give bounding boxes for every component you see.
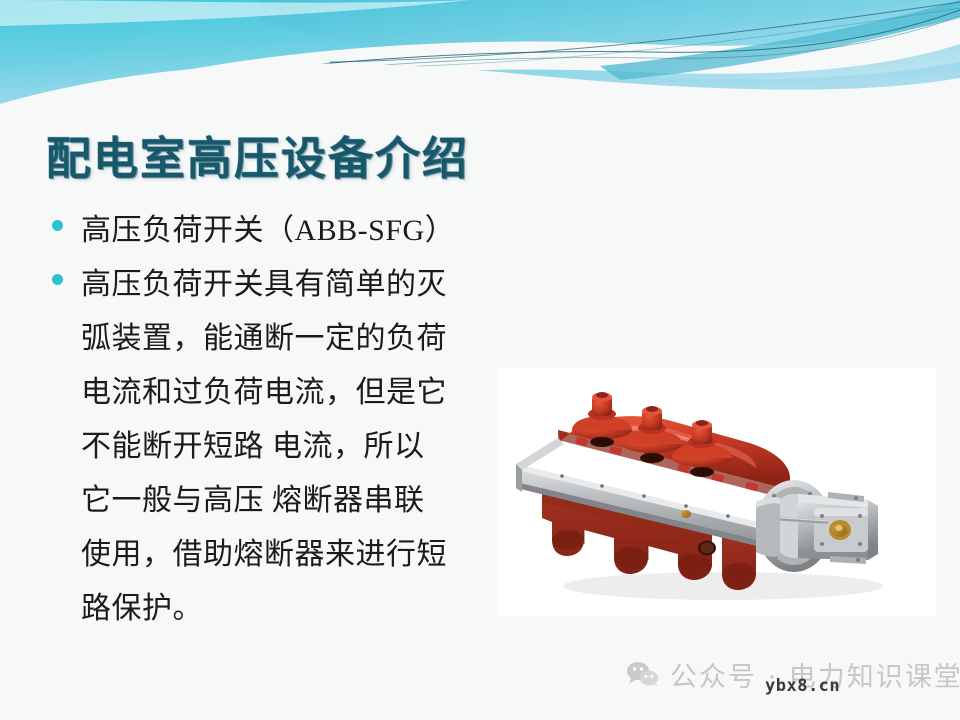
product-photo — [498, 368, 936, 616]
bullet-dot-icon — [52, 274, 63, 285]
bullet-text-content: 高压负荷开关具有简单的灭弧装置，能通断一定的负荷电流和过负荷电流，但是它不能断开… — [81, 268, 447, 625]
wechat-icon — [626, 660, 660, 688]
bullet-dot-icon — [52, 220, 63, 231]
list-item: 高压负荷开关（ABB-SFG） — [52, 204, 912, 258]
site-watermark: ybx8.cn — [765, 676, 840, 696]
page-title: 配电室高压设备介绍 — [46, 122, 469, 187]
bullet-text: 高压负荷开关（ABB-SFG） — [81, 204, 455, 258]
presentation-slide: 配电室高压设备介绍 高压负荷开关（ABB-SFG） 高压负荷开关具有简单的灭弧装… — [0, 0, 960, 720]
header-decoration — [0, 0, 960, 118]
